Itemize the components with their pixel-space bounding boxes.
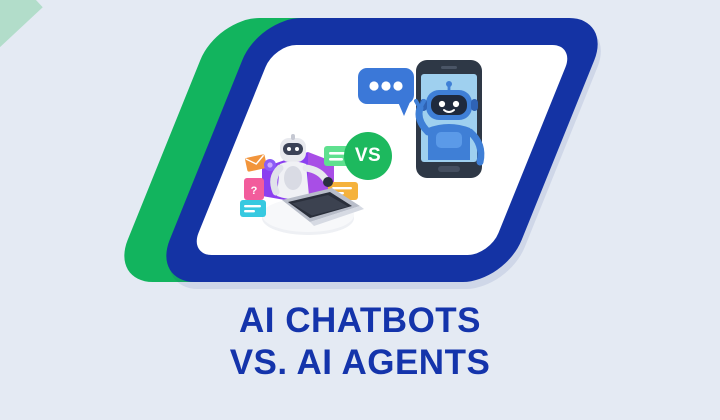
vs-badge: VS: [344, 132, 392, 180]
stripe-mint: [0, 0, 43, 348]
title-line-1: AI CHATBOTS: [0, 300, 720, 342]
banner-root: ?: [0, 0, 720, 420]
illustration-stage: ?: [158, 18, 564, 282]
page-title: AI CHATBOTS VS. AI AGENTS: [0, 300, 720, 384]
svg-text:?: ?: [251, 185, 258, 197]
speech-bubble-icon: [358, 68, 414, 116]
chat-card-cyan: [240, 200, 266, 217]
title-line-2: VS. AI AGENTS: [0, 342, 720, 384]
